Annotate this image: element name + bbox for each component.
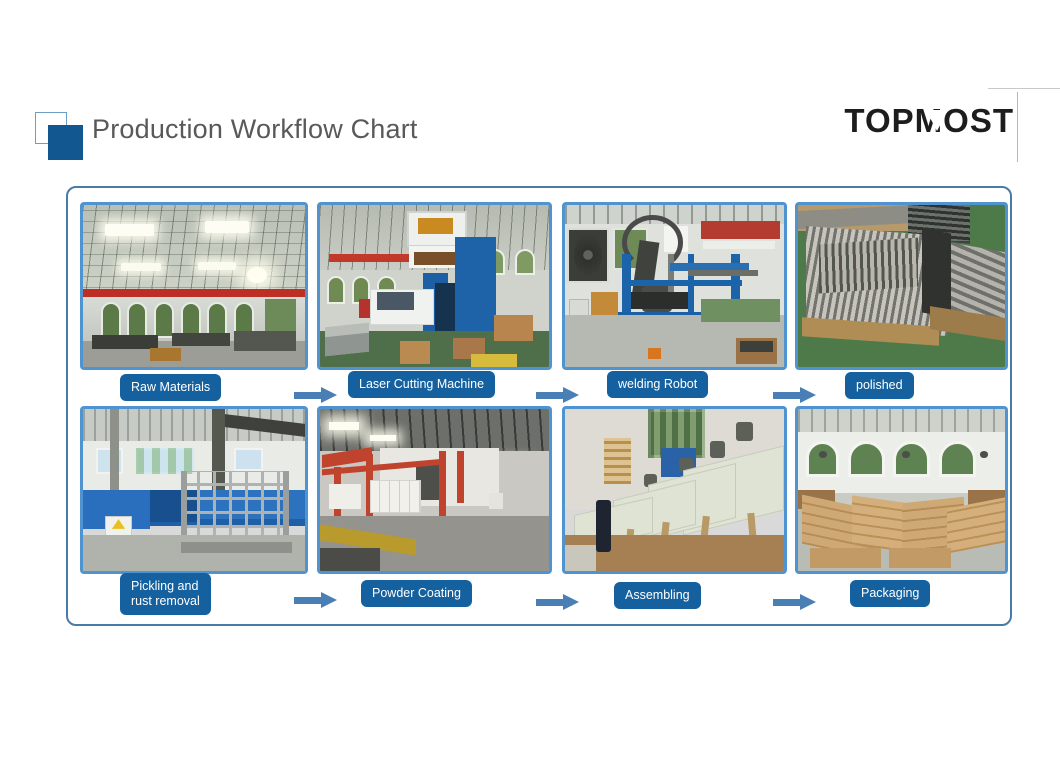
workflow-arrow-1 (294, 387, 338, 403)
workflow-photo-welding-robot (562, 202, 787, 370)
title-decoration-squares (35, 112, 85, 160)
header-divider-line (988, 88, 1060, 89)
photo-scene-factory-workshop (83, 205, 305, 367)
right-arrow-icon (321, 592, 337, 608)
photo-scene-packaged-cartons (798, 409, 1005, 571)
workflow-arrow-3 (773, 387, 817, 403)
workflow-label-laser-cutting[interactable]: Laser Cutting Machine (348, 371, 495, 398)
arrow-shaft (536, 599, 564, 606)
page-title: Production Workflow Chart (92, 114, 418, 145)
arrow-shaft (536, 392, 564, 399)
arrow-shaft (294, 392, 322, 399)
workflow-panel: Raw Materials Laser Cutting Machine weld… (66, 186, 1012, 626)
workflow-photo-packaging (795, 406, 1008, 574)
slide-canvas: Production Workflow Chart TOPMOST (0, 0, 1060, 762)
brand-logo: TOPMOST (844, 104, 1014, 138)
workflow-row-2: Pickling and rust removal Powder Coating… (68, 400, 1014, 605)
photo-scene-assembly-benches (565, 409, 784, 571)
right-arrow-icon (321, 387, 337, 403)
right-arrow-icon (800, 387, 816, 403)
workflow-arrow-2 (536, 387, 580, 403)
workflow-label-packaging[interactable]: Packaging (850, 580, 930, 607)
workflow-label-welding-robot[interactable]: welding Robot (607, 371, 708, 398)
workflow-label-raw-materials[interactable]: Raw Materials (120, 374, 221, 401)
workflow-photo-powder-coating (317, 406, 552, 574)
workflow-label-polished[interactable]: polished (845, 372, 914, 399)
photo-scene-laser-cutting-machine (320, 205, 549, 367)
photo-scene-powder-coating-line (320, 409, 549, 571)
workflow-label-powder-coating[interactable]: Powder Coating (361, 580, 472, 607)
photo-scene-pickling-tanks (83, 409, 305, 571)
workflow-photo-laser-cutting (317, 202, 552, 370)
photo-scene-polished-parts (798, 205, 1005, 367)
right-arrow-icon (800, 594, 816, 610)
photo-scene-welding-robot (565, 205, 784, 367)
right-arrow-icon (563, 594, 579, 610)
workflow-photo-raw-materials (80, 202, 308, 370)
arrow-shaft (773, 599, 801, 606)
arrow-shaft (773, 392, 801, 399)
workflow-photo-polished (795, 202, 1008, 370)
brand-logo-text: TOPMOST (844, 102, 1014, 140)
workflow-arrow-4 (294, 592, 338, 608)
workflow-label-assembling[interactable]: Assembling (614, 582, 701, 609)
solid-square-icon (48, 125, 83, 160)
logo-vertical-divider (1017, 92, 1018, 162)
arrow-shaft (294, 597, 322, 604)
workflow-photo-assembling (562, 406, 787, 574)
workflow-arrow-5 (536, 594, 580, 610)
workflow-row-1: Raw Materials Laser Cutting Machine weld… (68, 196, 1014, 401)
right-arrow-icon (563, 387, 579, 403)
workflow-label-pickling-rust-removal[interactable]: Pickling and rust removal (120, 573, 211, 615)
workflow-photo-pickling (80, 406, 308, 574)
workflow-arrow-6 (773, 594, 817, 610)
